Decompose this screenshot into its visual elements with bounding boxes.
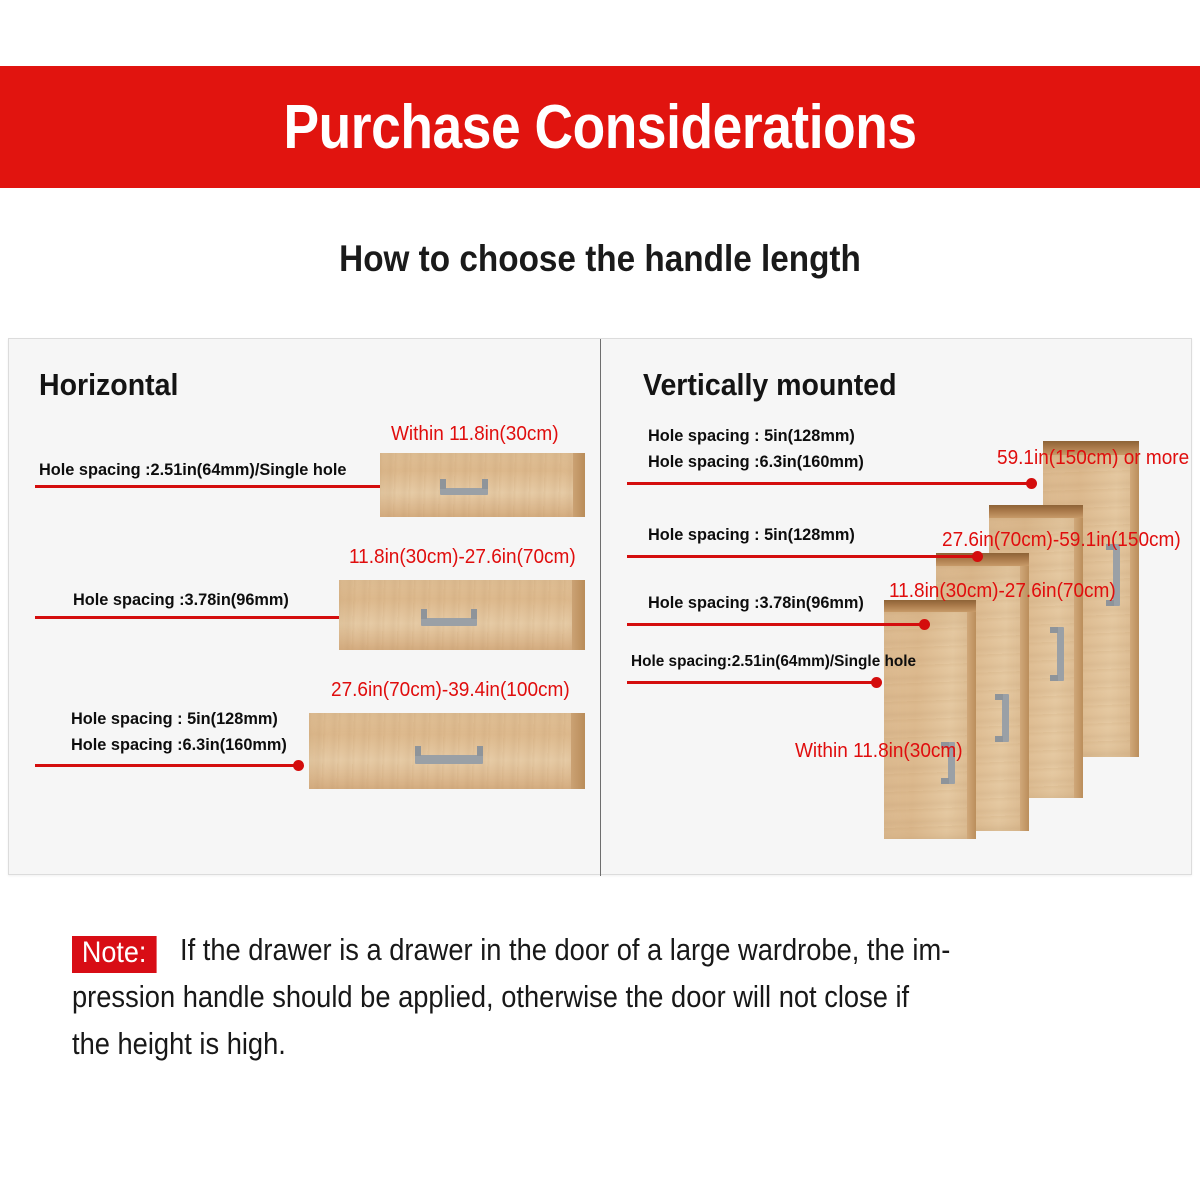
door-side-medium: [1020, 566, 1029, 831]
size-label-h3: 27.6in(70cm)-39.4in(100cm): [331, 679, 570, 702]
leader-dot-h3: [293, 760, 304, 771]
door-side-xlarge: [1130, 455, 1139, 757]
note-text-line-1: If the drawer is a drawer in the door of…: [180, 926, 950, 973]
size-label-v1: 59.1in(150cm) or more: [997, 447, 1189, 470]
size-label-h1: Within 11.8in(30cm): [391, 423, 559, 446]
header-banner: Purchase Considerations: [0, 66, 1200, 188]
door-side-small: [967, 612, 976, 839]
leader-dot-v3: [919, 619, 930, 630]
door-side-large: [1074, 518, 1083, 798]
spec-label-v1a: Hole spacing : 5in(128mm): [648, 425, 855, 447]
spec-label-v4: Hole spacing:2.51in(64mm)/Single hole: [631, 651, 916, 672]
note-badge: Note:: [72, 936, 156, 973]
leader-line-h3: [35, 764, 299, 767]
page-title: Purchase Considerations: [283, 92, 916, 163]
leader-line-v1: [627, 482, 1031, 485]
leader-line-v2: [627, 555, 978, 558]
size-label-h2: 11.8in(30cm)-27.6in(70cm): [349, 546, 576, 569]
spec-label-h1: Hole spacing :2.51in(64mm)/Single hole: [39, 459, 346, 481]
leader-line-h2: [35, 616, 355, 619]
panel-heading-vertical: Vertically mounted: [643, 367, 897, 403]
leader-line-v4: [627, 681, 877, 684]
drawer-small: [380, 453, 585, 517]
drawer-large: [309, 713, 585, 789]
spec-label-h3b: Hole spacing :6.3in(160mm): [71, 734, 287, 756]
panel-vertical: Vertically mounted Hole spacing : 5in(12…: [601, 339, 1192, 876]
leader-dot-v1: [1026, 478, 1037, 489]
door-small: [884, 612, 976, 839]
spec-label-h2: Hole spacing :3.78in(96mm): [73, 589, 289, 611]
handle-bar-large-v: [1057, 627, 1064, 681]
note-section: Note: If the drawer is a drawer in the d…: [72, 926, 1142, 1067]
handle-bar-small: [440, 488, 488, 495]
spec-label-h3a: Hole spacing : 5in(128mm): [71, 708, 278, 730]
door-top-face-large: [989, 505, 1083, 518]
handle-bar-medium-v: [1002, 694, 1009, 742]
handle-bar-large: [415, 755, 483, 764]
size-label-v2: 27.6in(70cm)-59.1in(150cm): [942, 529, 1181, 552]
drawer-edge-large: [571, 713, 585, 789]
subtitle: How to choose the handle length: [60, 238, 1140, 280]
drawer-edge-medium: [572, 580, 585, 650]
spec-label-v3: Hole spacing :3.78in(96mm): [648, 592, 864, 614]
size-label-v3: 11.8in(30cm)-27.6in(70cm): [889, 580, 1116, 603]
drawer-medium: [339, 580, 585, 650]
panel-heading-horizontal: Horizontal: [39, 367, 178, 403]
handle-bar-medium: [421, 618, 477, 626]
diagram-container: Horizontal Within 11.8in(30cm) Hole spac…: [8, 338, 1192, 875]
spec-label-v1b: Hole spacing :6.3in(160mm): [648, 451, 864, 473]
leader-dot-v2: [972, 551, 983, 562]
panel-horizontal: Horizontal Within 11.8in(30cm) Hole spac…: [9, 339, 600, 876]
note-text-line-2: pression handle should be applied, other…: [72, 973, 1014, 1020]
leader-line-h1: [35, 485, 401, 488]
leader-dot-v4: [871, 677, 882, 688]
drawer-edge-small: [573, 453, 585, 517]
size-label-v4: Within 11.8in(30cm): [795, 740, 963, 763]
note-first-line: Note: If the drawer is a drawer in the d…: [72, 926, 1142, 973]
spec-label-v2: Hole spacing : 5in(128mm): [648, 524, 855, 546]
note-text-line-3: the height is high.: [72, 1020, 1014, 1067]
leader-line-v3: [627, 623, 925, 626]
